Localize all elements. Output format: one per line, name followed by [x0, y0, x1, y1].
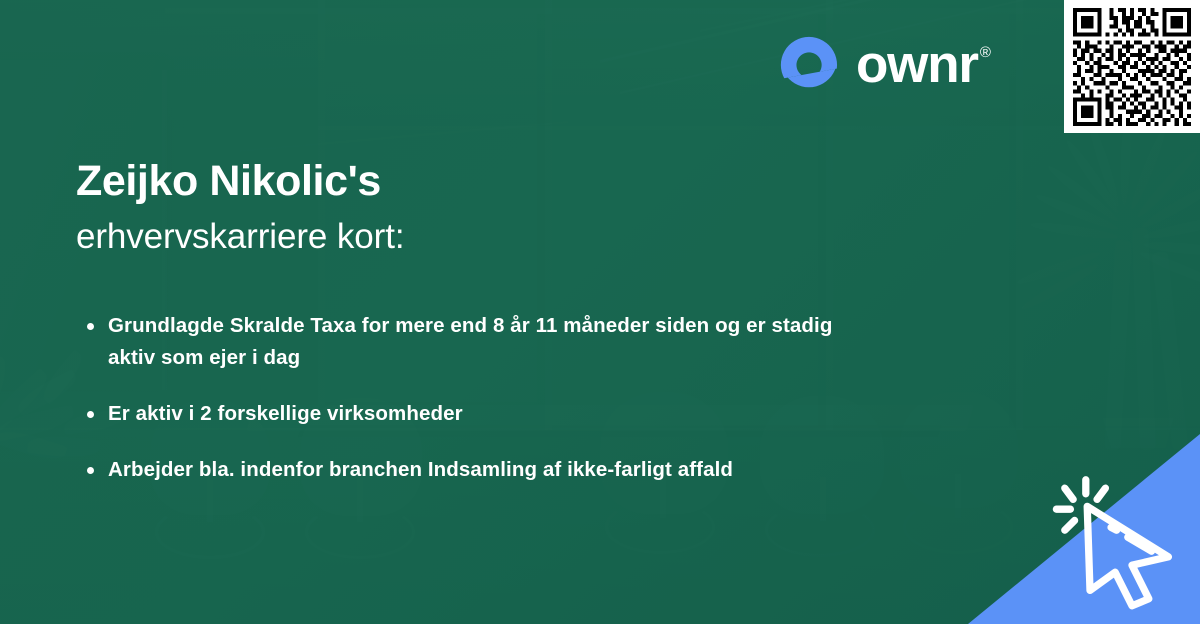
ownr-circle-logo-icon [778, 34, 840, 96]
page-subtitle: erhvervskarriere kort: [76, 212, 896, 262]
click-cursor-icon [1048, 470, 1188, 610]
ownr-wordmark-text: ownr [856, 37, 978, 93]
qr-code-panel[interactable] [1064, 0, 1200, 133]
qr-code-icon [1073, 8, 1191, 126]
page-title: Zeijko Nikolic's erhvervskarriere kort: [76, 155, 896, 262]
career-facts-list: Grundlagde Skralde Taxa for mere end 8 å… [78, 310, 898, 486]
list-item: Er aktiv i 2 forskellige virksomheder [78, 398, 868, 430]
business-card: ownr ® [0, 0, 1200, 624]
person-name: Zeijko Nikolic's [76, 155, 896, 207]
list-item: Arbejder bla. indenfor branchen Indsamli… [78, 454, 868, 486]
list-item: Grundlagde Skralde Taxa for mere end 8 å… [78, 310, 868, 374]
ownr-wordmark: ownr ® [856, 37, 991, 93]
registered-trademark-icon: ® [980, 43, 991, 63]
card-content: ownr ® [0, 0, 1200, 624]
ownr-logo[interactable]: ownr ® [778, 34, 991, 96]
